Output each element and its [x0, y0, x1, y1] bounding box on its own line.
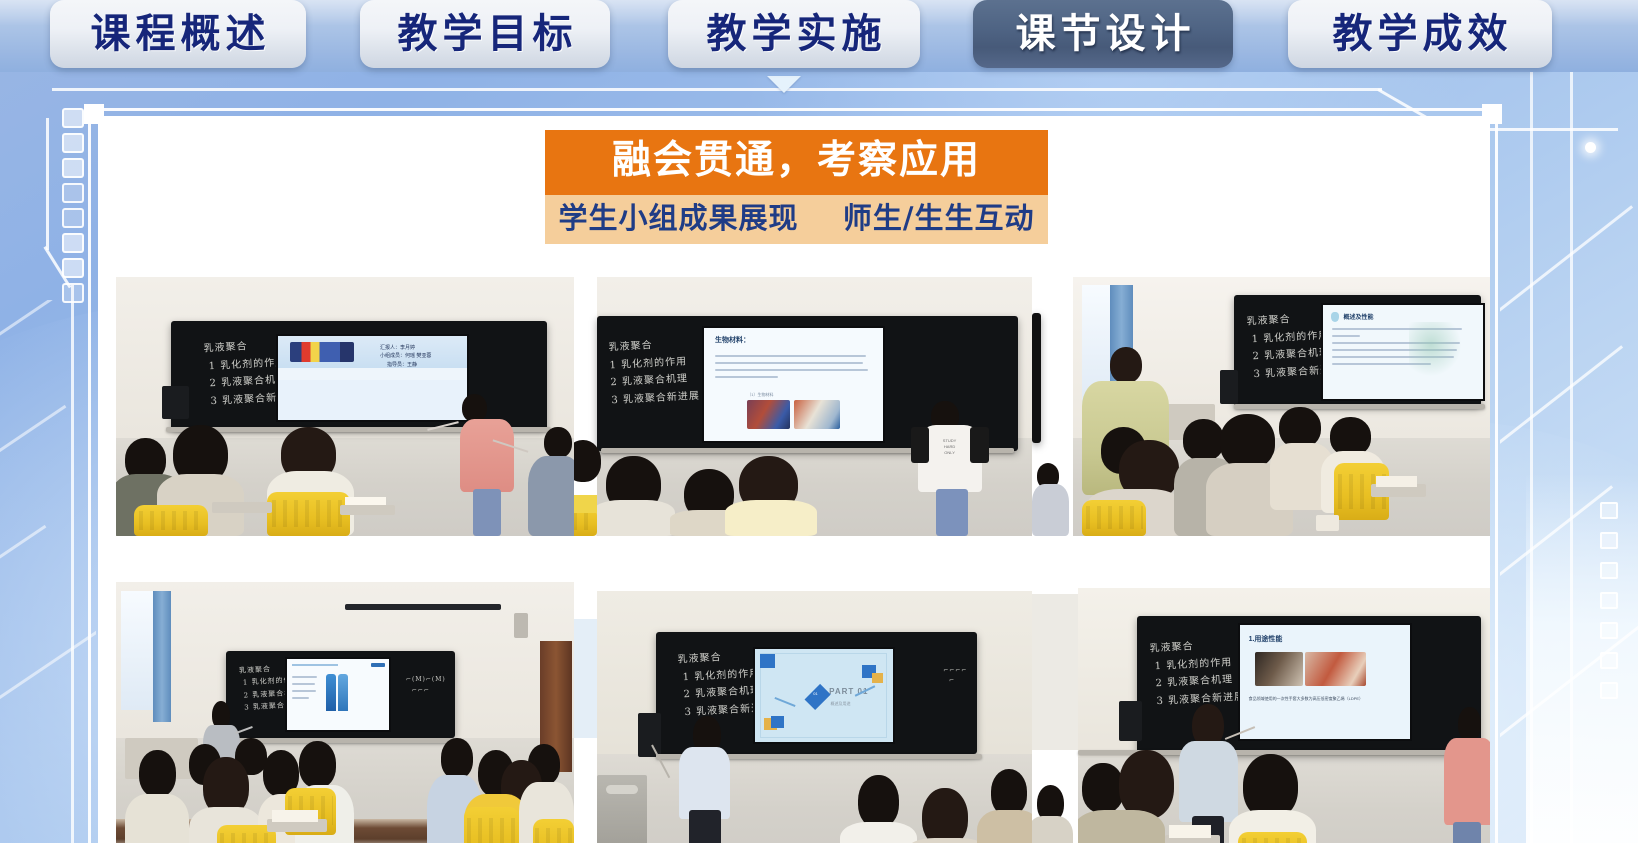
- decor-square: [62, 208, 84, 228]
- tab-course-overview[interactable]: 课程概述: [50, 0, 306, 68]
- chevron-down-icon: [767, 76, 801, 93]
- tab-label: 教学目标: [393, 14, 578, 54]
- gallery-photo-5[interactable]: 乳液聚合 1 乳化剂的作用 2 乳液聚合机理 3 乳液聚合新进展 ⌐⌐⌐⌐ ⌐ …: [574, 557, 1032, 843]
- photo-grid: 乳液聚合 1 乳化剂的作用 2 乳液聚合机理 3 乳液聚合新进展 汇报人：李月婷…: [116, 277, 1490, 843]
- decor-left-band: [0, 300, 96, 843]
- slide-title-block: 融会贯通，考察应用 学生小组成果展现 师生/生生互动: [545, 130, 1048, 244]
- gallery-photo-1[interactable]: 乳液聚合 1 乳化剂的作用 2 乳液聚合机理 3 乳液聚合新进展 汇报人：李月婷…: [116, 277, 574, 536]
- decor-square: [62, 183, 84, 203]
- decor-square: [62, 233, 84, 253]
- decor-square: [62, 158, 84, 178]
- tab-label: 课程概述: [86, 14, 271, 54]
- gallery-photo-3[interactable]: 乳液聚合 1 乳化剂的作用 2 乳液聚合机理 3 乳液聚合新进展 概述及性能: [1032, 277, 1490, 536]
- tab-label: 课节设计: [1011, 14, 1196, 54]
- tab-label: 教学成效: [1328, 14, 1513, 54]
- gallery-photo-4[interactable]: 乳液聚合 1 乳化剂的作用 2 乳液聚合机理 3 乳液聚合新进展 ⌐(M)⌐(M…: [116, 557, 574, 843]
- presentation-slide: 课程概述 教学目标 教学实施 课节设计 教学成效 融会贯通，考察应用 学生小组成…: [0, 0, 1638, 843]
- slide-subtitle-banner: 学生小组成果展现 师生/生生互动: [545, 195, 1048, 244]
- decor-square-column-right: [1600, 502, 1618, 712]
- slide-subtitle-text: 学生小组成果展现 师生/生生互动: [559, 201, 1035, 235]
- decor-left-rail: [46, 118, 49, 250]
- gallery-photo-6[interactable]: 乳液聚合 1 乳化剂的作用 2 乳液聚合机理 3 乳液聚合新进展 1.用途性能 …: [1032, 557, 1490, 843]
- tab-teaching-results[interactable]: 教学成效: [1288, 0, 1552, 68]
- decor-square: [1600, 652, 1618, 669]
- gallery-photo-2[interactable]: 乳液聚合 1 乳化剂的作用 2 乳液聚合机理 3 乳液聚合新进展 生物材料： （…: [574, 277, 1032, 536]
- decor-square: [1600, 532, 1618, 549]
- decor-square: [1600, 682, 1618, 699]
- slide-title-text: 融会贯通，考察应用: [612, 138, 981, 183]
- tab-lesson-design[interactable]: 课节设计: [973, 0, 1233, 68]
- top-navigation-bar: 课程概述 教学目标 教学实施 课节设计 教学成效: [0, 0, 1638, 72]
- tab-teaching-implementation[interactable]: 教学实施: [668, 0, 920, 68]
- decor-square-column-left: [62, 108, 86, 308]
- decor-top-rail: [52, 88, 1382, 91]
- decor-square: [1600, 592, 1618, 609]
- slide-subheading: 概述及用途: [830, 701, 850, 707]
- decor-square: [1600, 562, 1618, 579]
- decor-square: [62, 108, 84, 128]
- slide-caption: 食品领域使用的一次性手套大多数为高压低密度聚乙烯（LDPE）: [1249, 696, 1402, 702]
- tab-label: 教学实施: [702, 14, 887, 54]
- decor-square: [1600, 622, 1618, 639]
- decor-square: [62, 133, 84, 153]
- slide-heading: 1.用途性能: [1249, 634, 1283, 644]
- content-panel: 融会贯通，考察应用 学生小组成果展现 师生/生生互动 乳液聚合 1 乳化剂的作用…: [98, 116, 1490, 843]
- decor-dot: [1585, 142, 1596, 153]
- slide-heading: 生物材料：: [715, 335, 750, 345]
- slide-title-banner: 融会贯通，考察应用: [545, 130, 1048, 195]
- decor-square: [62, 258, 84, 278]
- decor-left-rail-knee: [46, 246, 86, 290]
- tab-teaching-objectives[interactable]: 教学目标: [360, 0, 610, 68]
- decor-square: [1600, 502, 1618, 519]
- slide-heading: 概述及性能: [1343, 312, 1373, 321]
- decor-right-band: [1500, 72, 1638, 843]
